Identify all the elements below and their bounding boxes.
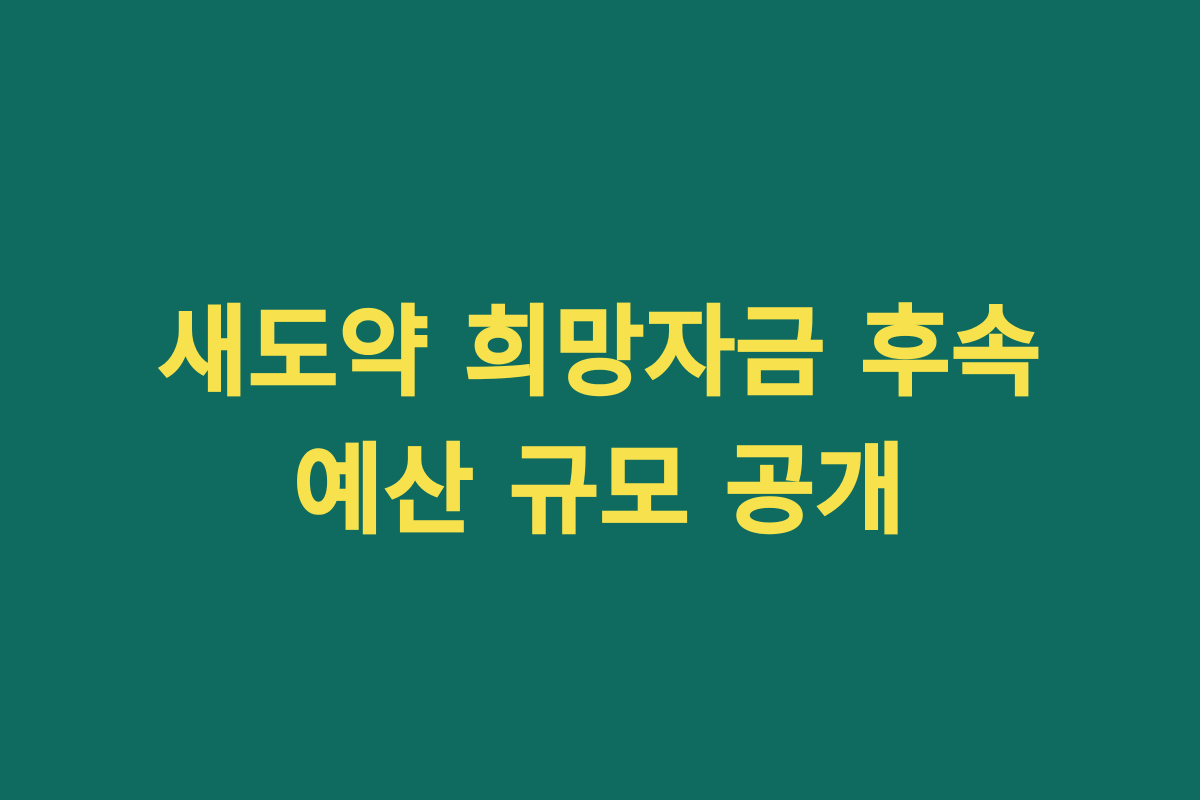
banner-card: 새도약 희망자금 후속 예산 규모 공개 bbox=[0, 0, 1200, 800]
headline-block: 새도약 희망자금 후속 예산 규모 공개 bbox=[0, 284, 1200, 559]
headline-line-2: 예산 규모 공개 bbox=[0, 422, 1200, 560]
headline-line-1: 새도약 희망자금 후속 bbox=[0, 284, 1200, 422]
